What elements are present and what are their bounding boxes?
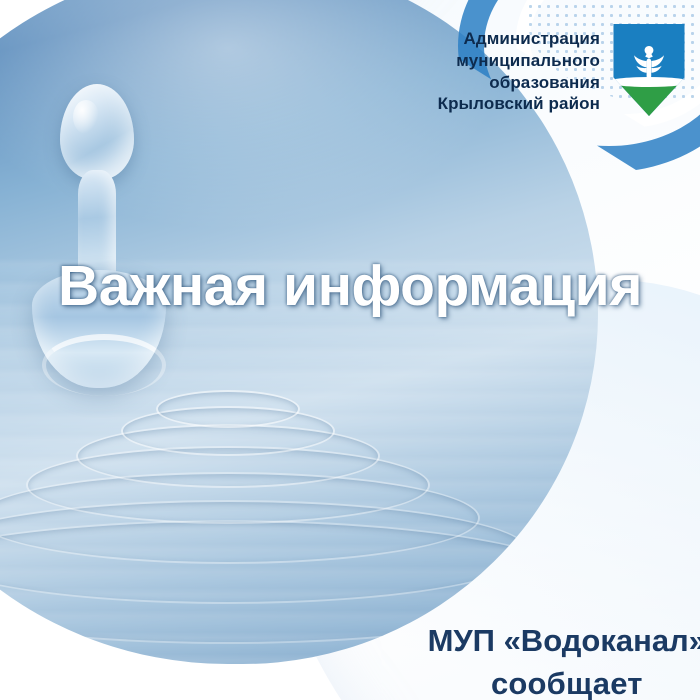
poster-canvas: Администрация муниципального образования… [0,0,700,700]
administration-line-4: Крыловский район [438,93,600,115]
administration-line-3: образования [438,72,600,94]
headline-text: Важная информация [0,258,700,315]
ripple-ring [156,390,300,428]
footer-line-2: сообщает [428,663,700,700]
shield-green-base [612,85,686,116]
header-emblem-block: Администрация муниципального образования… [438,24,686,116]
droplet-head [60,84,134,180]
bird-icon [626,42,672,82]
splash-crown [42,334,166,396]
administration-line-2: муниципального [438,50,600,72]
water-droplet-splash [26,84,176,414]
coat-of-arms-icon [612,24,686,116]
footer-line-1: МУП «Водоканал» [428,620,700,663]
footer-block: МУП «Водоканал» сообщает [428,620,700,700]
administration-title: Администрация муниципального образования… [438,24,600,115]
administration-line-1: Администрация [438,28,600,50]
